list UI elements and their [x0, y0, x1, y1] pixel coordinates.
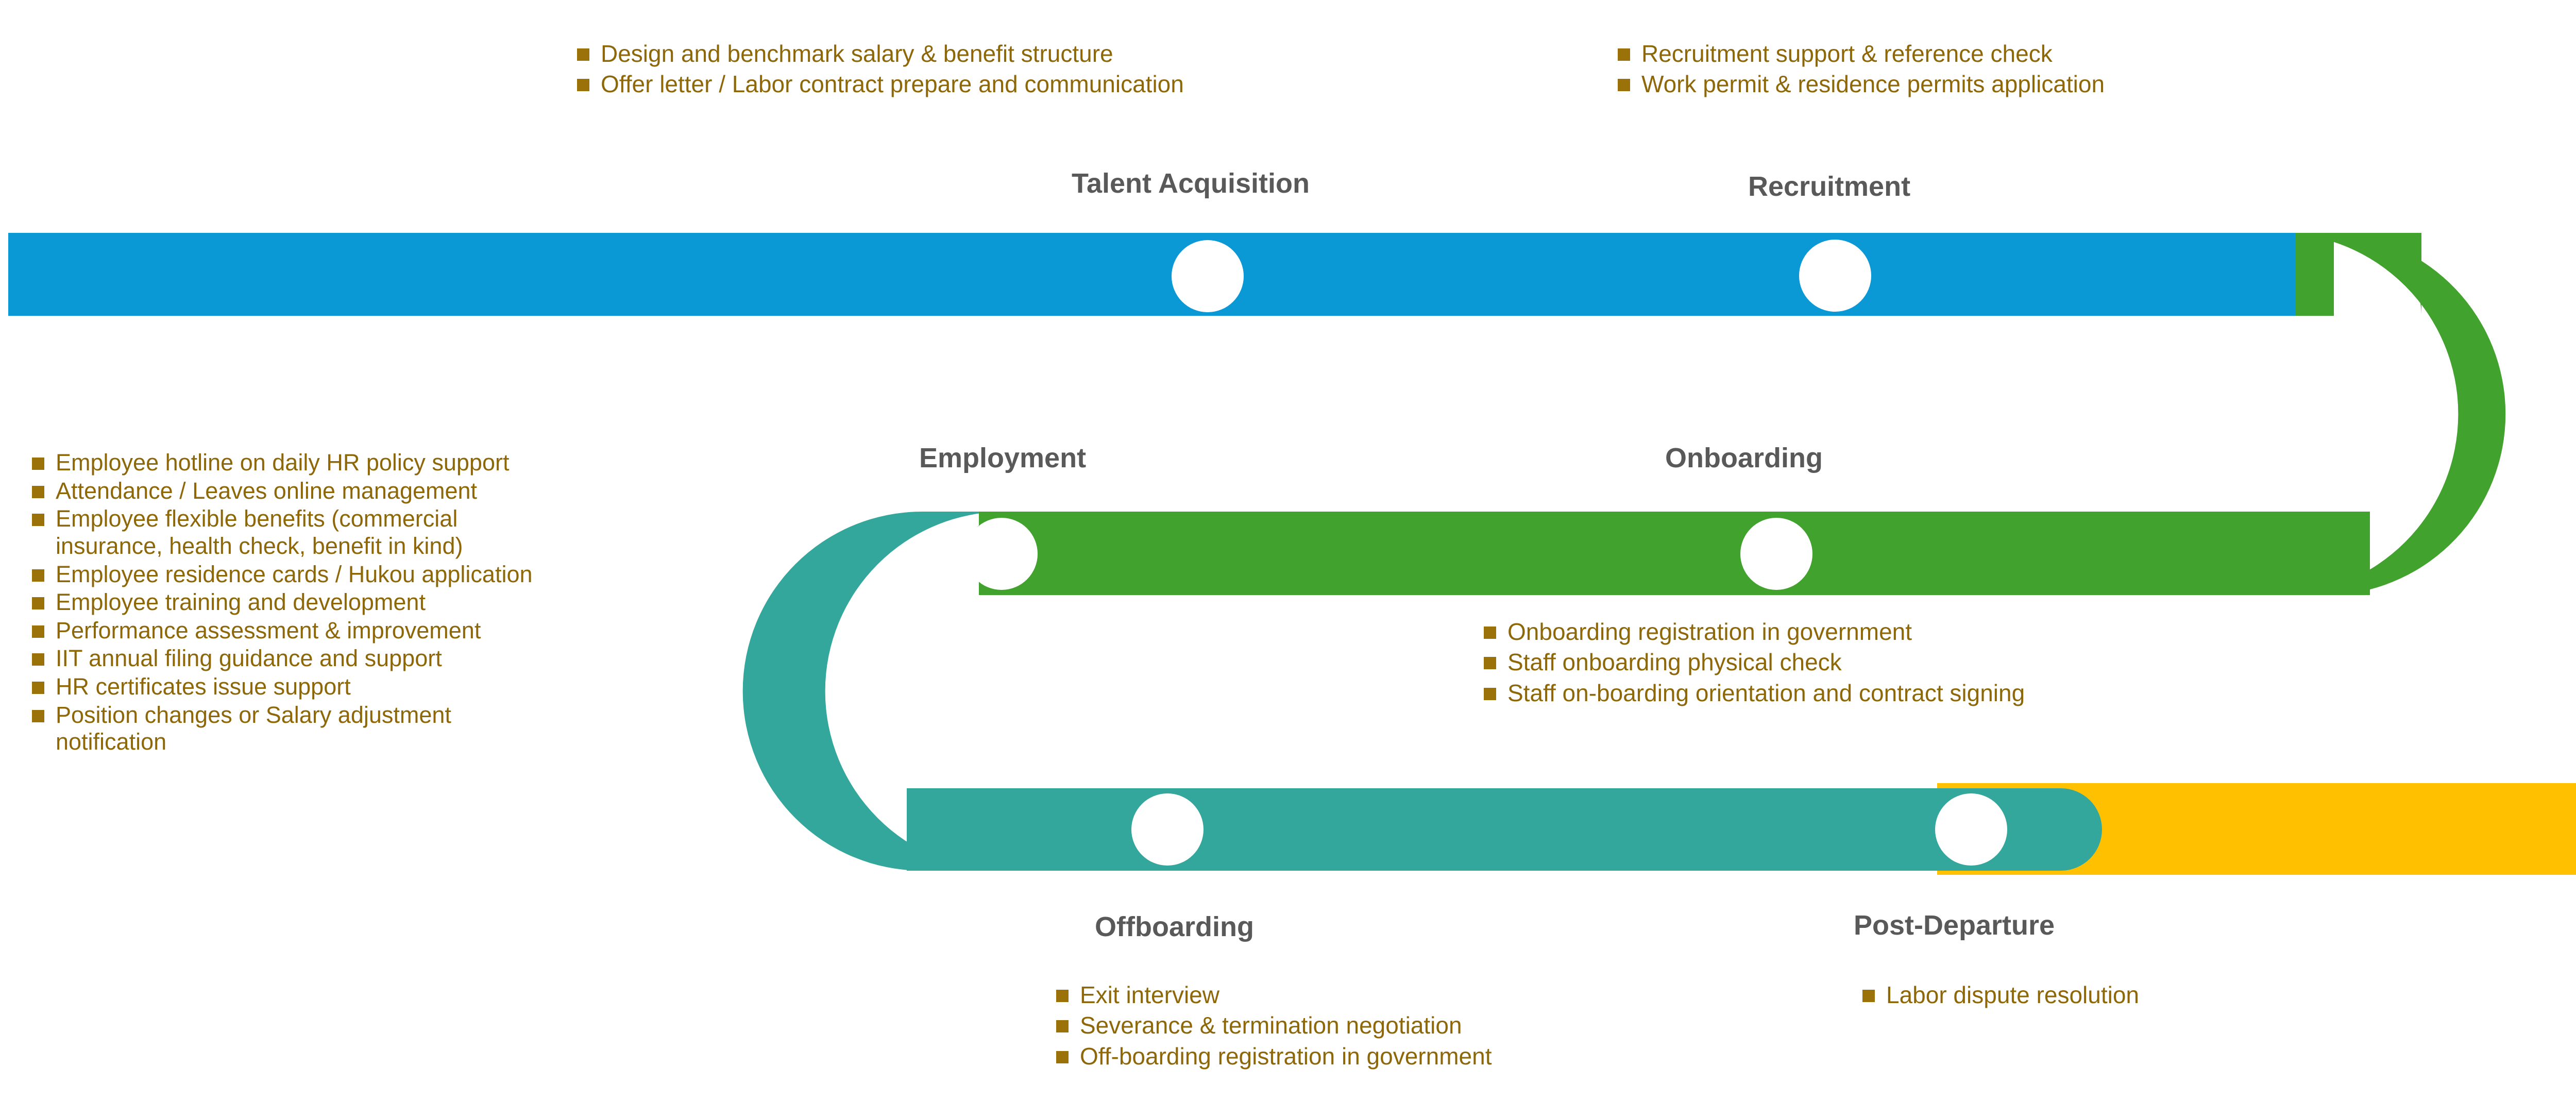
- bullet-square-icon: [32, 458, 44, 470]
- bullet-text: Staff onboarding physical check: [1507, 649, 1842, 676]
- bullet-text: Labor dispute resolution: [1886, 981, 2139, 1009]
- bullet-square-icon: [1618, 79, 1630, 91]
- node-employment[interactable]: [965, 518, 1038, 590]
- list-item: Staff on-boarding orientation and contra…: [1484, 680, 2463, 707]
- bullet-text: Position changes or Salary adjustment no…: [56, 702, 451, 756]
- stage-label-recruitment: Recruitment: [1748, 171, 1910, 202]
- list-item: Position changes or Salary adjustment no…: [32, 702, 877, 756]
- bullet-square-icon: [577, 79, 589, 91]
- bullet-square-icon: [32, 569, 44, 582]
- bullet-text: Employee hotline on daily HR policy supp…: [56, 449, 509, 477]
- list-item: Labor dispute resolution: [1862, 981, 2532, 1009]
- bullet-list-post-departure: Labor dispute resolution: [1862, 981, 2532, 1012]
- stage-label-post-departure: Post-Departure: [1854, 909, 2055, 941]
- node-talent-acquisition[interactable]: [1172, 240, 1244, 312]
- bullet-square-icon: [1056, 990, 1069, 1002]
- list-item: Work permit & residence permits applicat…: [1618, 71, 2545, 98]
- stage-label-talent-acquisition: Talent Acquisition: [1072, 167, 1310, 199]
- list-item: Onboarding registration in government: [1484, 618, 2463, 646]
- bullet-list-recruitment: Recruitment support & reference check Wo…: [1618, 40, 2545, 101]
- bullet-text: HR certificates issue support: [56, 673, 351, 701]
- bullet-text: Off-boarding registration in government: [1080, 1043, 1492, 1070]
- bullet-square-icon: [32, 653, 44, 666]
- node-post-departure[interactable]: [1935, 793, 2007, 866]
- list-item: Off-boarding registration in government: [1056, 1043, 1829, 1070]
- stage-label-offboarding: Offboarding: [1095, 911, 1254, 943]
- bullet-text: Work permit & residence permits applicat…: [1641, 71, 2105, 98]
- bullet-list-onboarding: Onboarding registration in government St…: [1484, 618, 2463, 710]
- hr-lifecycle-diagram: Talent Acquisition Recruitment Onboardin…: [0, 0, 2576, 1118]
- band-green-middle-run: [979, 512, 2370, 595]
- bullet-square-icon: [32, 710, 44, 722]
- bullet-text: Recruitment support & reference check: [1641, 40, 2053, 67]
- bullet-square-icon: [1484, 657, 1496, 669]
- bullet-text: Employee flexible benefits (commercial i…: [56, 505, 463, 560]
- bullet-square-icon: [1618, 48, 1630, 61]
- bullet-text: Performance assessment & improvement: [56, 617, 481, 645]
- list-item: Recruitment support & reference check: [1618, 40, 2545, 67]
- bullet-text: Onboarding registration in government: [1507, 618, 1912, 646]
- band-teal-bottom-run: [907, 788, 2009, 871]
- bullet-square-icon: [1862, 990, 1875, 1002]
- bullet-square-icon: [577, 48, 589, 61]
- bullet-square-icon: [32, 682, 44, 694]
- list-item: Attendance / Leaves online management: [32, 478, 877, 505]
- list-item: Design and benchmark salary & benefit st…: [577, 40, 1556, 67]
- stage-label-employment: Employment: [919, 442, 1086, 474]
- node-onboarding[interactable]: [1740, 518, 1812, 590]
- bullet-square-icon: [32, 597, 44, 609]
- list-item: Staff onboarding physical check: [1484, 649, 2463, 676]
- list-item: HR certificates issue support: [32, 673, 877, 701]
- list-item: Performance assessment & improvement: [32, 617, 877, 645]
- list-item: IIT annual filing guidance and support: [32, 645, 877, 672]
- bullet-text: Employee residence cards / Hukou applica…: [56, 561, 533, 588]
- bullet-list-employment: Employee hotline on daily HR policy supp…: [32, 449, 877, 757]
- bullet-text: Staff on-boarding orientation and contra…: [1507, 680, 2025, 707]
- bullet-square-icon: [1484, 626, 1496, 639]
- bullet-square-icon: [32, 514, 44, 526]
- bullet-text: Design and benchmark salary & benefit st…: [601, 40, 1113, 67]
- stage-label-onboarding: Onboarding: [1665, 442, 1823, 474]
- bullet-text: IIT annual filing guidance and support: [56, 645, 442, 672]
- node-recruitment[interactable]: [1799, 240, 1871, 312]
- band-blue-top-run: [8, 233, 2296, 316]
- list-item: Offer letter / Labor contract prepare an…: [577, 71, 1556, 98]
- bullet-text: Exit interview: [1080, 981, 1219, 1009]
- node-offboarding[interactable]: [1131, 793, 1204, 866]
- list-item: Employee hotline on daily HR policy supp…: [32, 449, 877, 477]
- bullet-text: Employee training and development: [56, 589, 426, 616]
- bullet-square-icon: [1056, 1020, 1069, 1032]
- list-item: Employee flexible benefits (commercial i…: [32, 505, 877, 560]
- bullet-text: Severance & termination negotiation: [1080, 1012, 1462, 1039]
- list-item: Exit interview: [1056, 981, 1829, 1009]
- bullet-square-icon: [1484, 688, 1496, 700]
- bullet-list-offboarding: Exit interview Severance & termination n…: [1056, 981, 1829, 1073]
- bullet-square-icon: [1056, 1051, 1069, 1063]
- bullet-list-talent-acquisition: Design and benchmark salary & benefit st…: [577, 40, 1556, 101]
- bullet-square-icon: [32, 625, 44, 638]
- list-item: Employee residence cards / Hukou applica…: [32, 561, 877, 588]
- list-item: Employee training and development: [32, 589, 877, 616]
- list-item: Severance & termination negotiation: [1056, 1012, 1829, 1039]
- bullet-square-icon: [32, 486, 44, 498]
- bullet-text: Attendance / Leaves online management: [56, 478, 477, 505]
- bullet-text: Offer letter / Labor contract prepare an…: [601, 71, 1184, 98]
